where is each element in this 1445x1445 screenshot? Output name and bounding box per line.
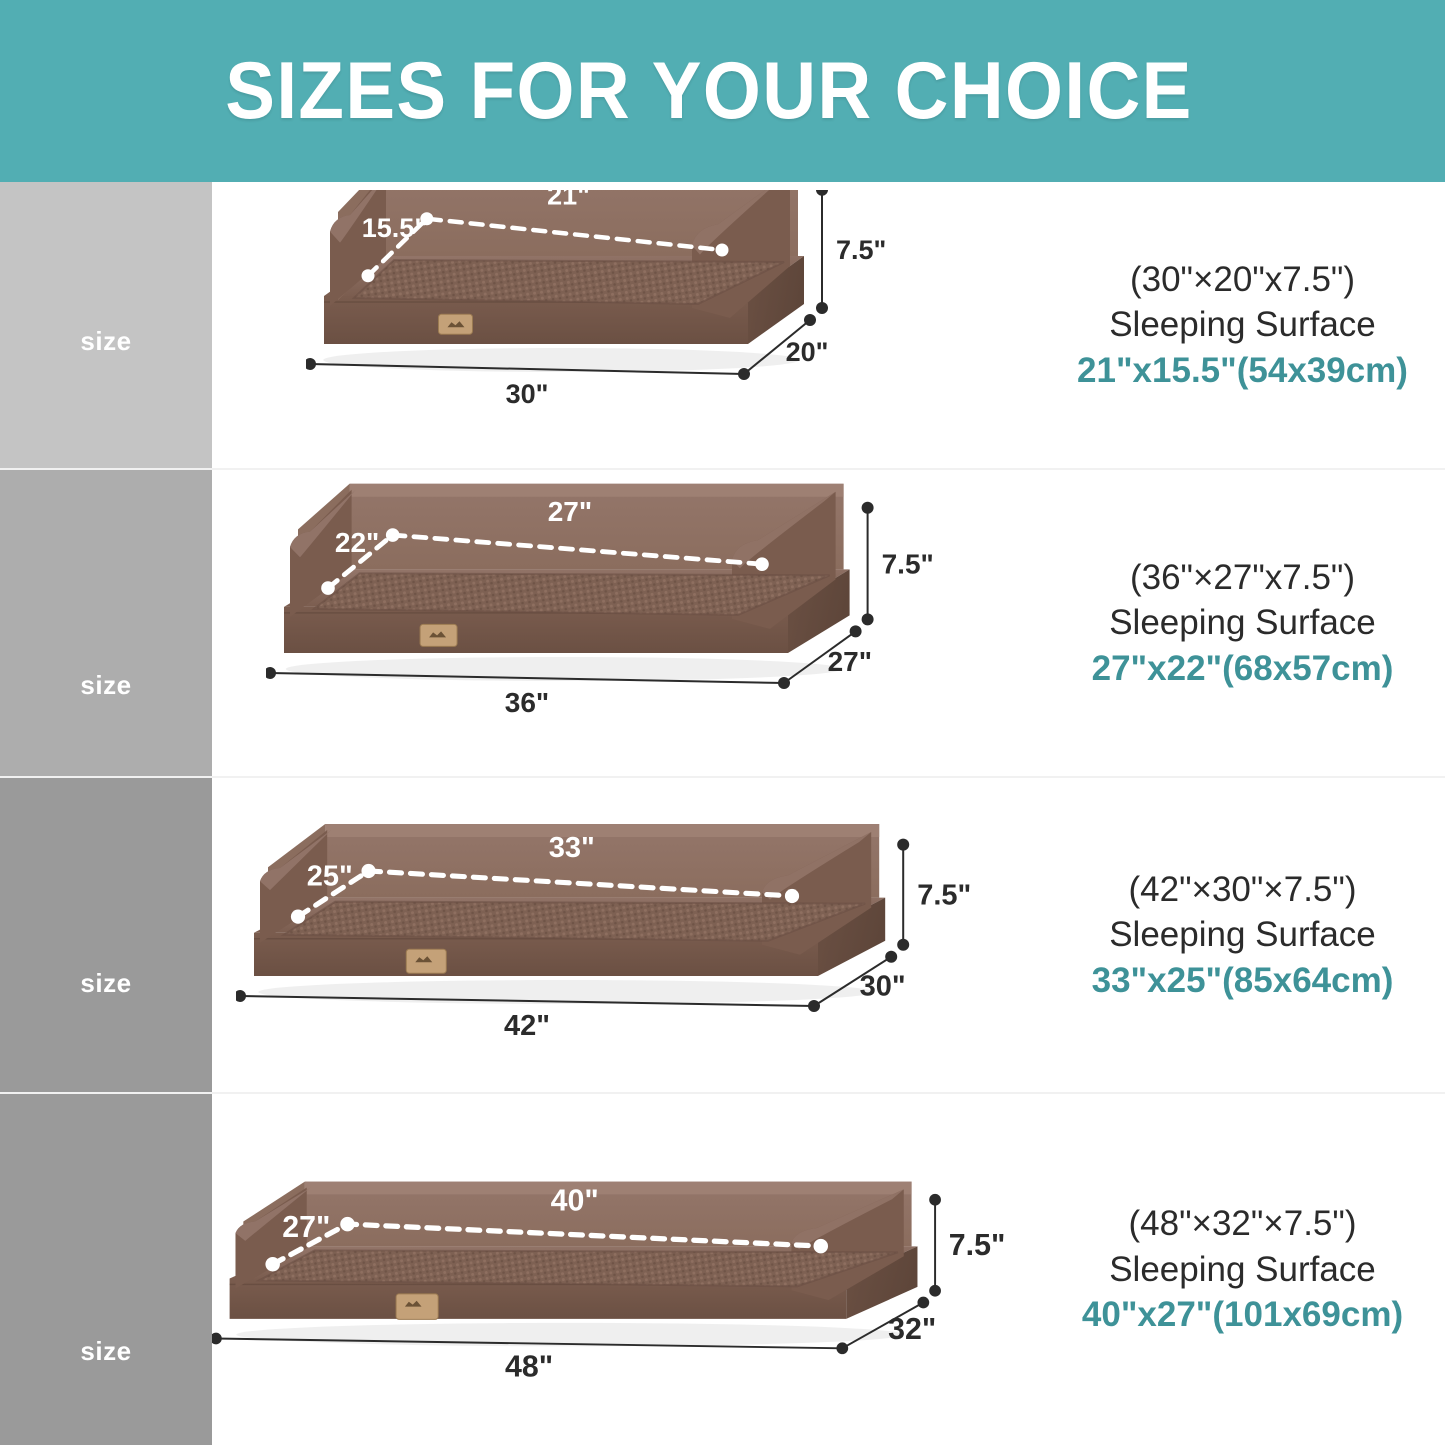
- spec-cell: (30"×20"x7.5") Sleeping Surface 21"x15.5…: [1040, 182, 1445, 468]
- outer-length-label: 42": [504, 1010, 550, 1042]
- sleeping-surface-caption: Sleeping Surface: [1109, 1247, 1376, 1293]
- bed-back-bolster-top: [350, 484, 844, 497]
- sleeping-surface-caption: Sleeping Surface: [1109, 912, 1376, 958]
- bed-back-bolster-top: [325, 824, 879, 837]
- dog-bed-illustration: 27" 40" 48" 32" 7.5": [212, 1104, 1040, 1436]
- sleeping-surface-dimensions: 27"x22"(68x57cm): [1092, 646, 1394, 692]
- inner-depth-label: 15.5": [362, 213, 427, 243]
- inner-width-label: 40": [551, 1184, 599, 1217]
- size-swatch-cell[interactable]: size: [0, 182, 212, 468]
- size-swatch-cell[interactable]: size: [0, 1094, 212, 1445]
- outer-length-label: 36": [505, 687, 549, 718]
- bed-image-cell: 15.5" 21" 30" 20" 7.5": [212, 182, 1040, 468]
- outer-width-label: 20": [786, 337, 829, 367]
- size-label: size: [80, 968, 131, 999]
- size-row: size: [0, 778, 1445, 1094]
- inner-width-label: 33": [549, 832, 595, 864]
- overall-dimensions: (30"×20"x7.5"): [1130, 257, 1355, 303]
- page-title: SIZES FOR YOUR CHOICE: [225, 45, 1220, 138]
- bed-shadow: [236, 1322, 903, 1345]
- dog-bed-illustration: 15.5" 21" 30" 20" 7.5": [306, 190, 946, 460]
- brand-logo-patch: [396, 1293, 438, 1318]
- size-rows-container: size: [0, 182, 1445, 1445]
- sleeping-surface-dimensions: 40"x27"(101x69cm): [1082, 1292, 1403, 1338]
- dog-bed-illustration: 25" 33" 42" 30" 7.5": [236, 778, 1016, 1092]
- sleeping-surface-dimensions: 21"x15.5"(54x39cm): [1077, 348, 1408, 394]
- inner-depth-label: 25": [307, 861, 353, 893]
- spec-cell: (42"×30"×7.5") Sleeping Surface 33"x25"(…: [1040, 778, 1445, 1092]
- brand-logo-patch: [406, 949, 446, 973]
- sleeping-surface-caption: Sleeping Surface: [1109, 302, 1376, 348]
- bed-shadow: [258, 980, 874, 1004]
- bed-height-label: 7.5": [949, 1229, 1006, 1262]
- bed-shadow: [323, 348, 799, 372]
- outer-width-label: 27": [828, 646, 872, 677]
- bed-shadow: [286, 657, 842, 681]
- inner-depth-label: 22": [335, 527, 379, 558]
- size-row: size: [0, 182, 1445, 470]
- bed-height-label: 7.5": [882, 549, 934, 580]
- dog-bed-illustration: 22" 27" 36" 27" 7.5": [266, 477, 986, 769]
- spec-cell: (48"×32"×7.5") Sleeping Surface 40"x27"(…: [1040, 1094, 1445, 1445]
- bed-image-cell: 25" 33" 42" 30" 7.5": [212, 778, 1040, 1092]
- size-row: size: [0, 1094, 1445, 1445]
- header-banner: SIZES FOR YOUR CHOICE: [0, 0, 1445, 182]
- bed-height-label: 7.5": [917, 880, 971, 912]
- size-label: size: [80, 670, 131, 701]
- size-row: size: [0, 470, 1445, 778]
- overall-dimensions: (42"×30"×7.5"): [1129, 867, 1357, 913]
- outer-length-label: 48": [505, 1350, 553, 1383]
- outer-length-label: 30": [506, 379, 549, 409]
- brand-logo-patch: [438, 314, 472, 334]
- outer-width-label: 32": [888, 1313, 936, 1346]
- bed-back-bolster-top: [305, 1181, 912, 1194]
- outer-width-label: 30": [860, 970, 906, 1002]
- size-swatch-cell[interactable]: size: [0, 778, 212, 1092]
- inner-width-label: 21": [547, 190, 590, 211]
- inner-width-label: 27": [548, 496, 592, 527]
- sleeping-surface-dimensions: 33"x25"(85x64cm): [1092, 958, 1394, 1004]
- size-chart-page: SIZES FOR YOUR CHOICE size: [0, 0, 1445, 1445]
- inner-depth-label: 27": [282, 1211, 330, 1244]
- overall-dimensions: (48"×32"×7.5"): [1129, 1201, 1357, 1247]
- size-label: size: [80, 1336, 131, 1367]
- bed-image-cell: 27" 40" 48" 32" 7.5": [212, 1094, 1040, 1445]
- spec-cell: (36"×27"x7.5") Sleeping Surface 27"x22"(…: [1040, 470, 1445, 776]
- size-swatch-cell[interactable]: size: [0, 470, 212, 776]
- brand-logo-patch: [420, 624, 457, 646]
- bed-image-cell: 22" 27" 36" 27" 7.5": [212, 470, 1040, 776]
- size-label: size: [80, 326, 131, 357]
- sleeping-surface-caption: Sleeping Surface: [1109, 600, 1376, 646]
- overall-dimensions: (36"×27"x7.5"): [1130, 555, 1355, 601]
- bed-height-label: 7.5": [836, 235, 886, 265]
